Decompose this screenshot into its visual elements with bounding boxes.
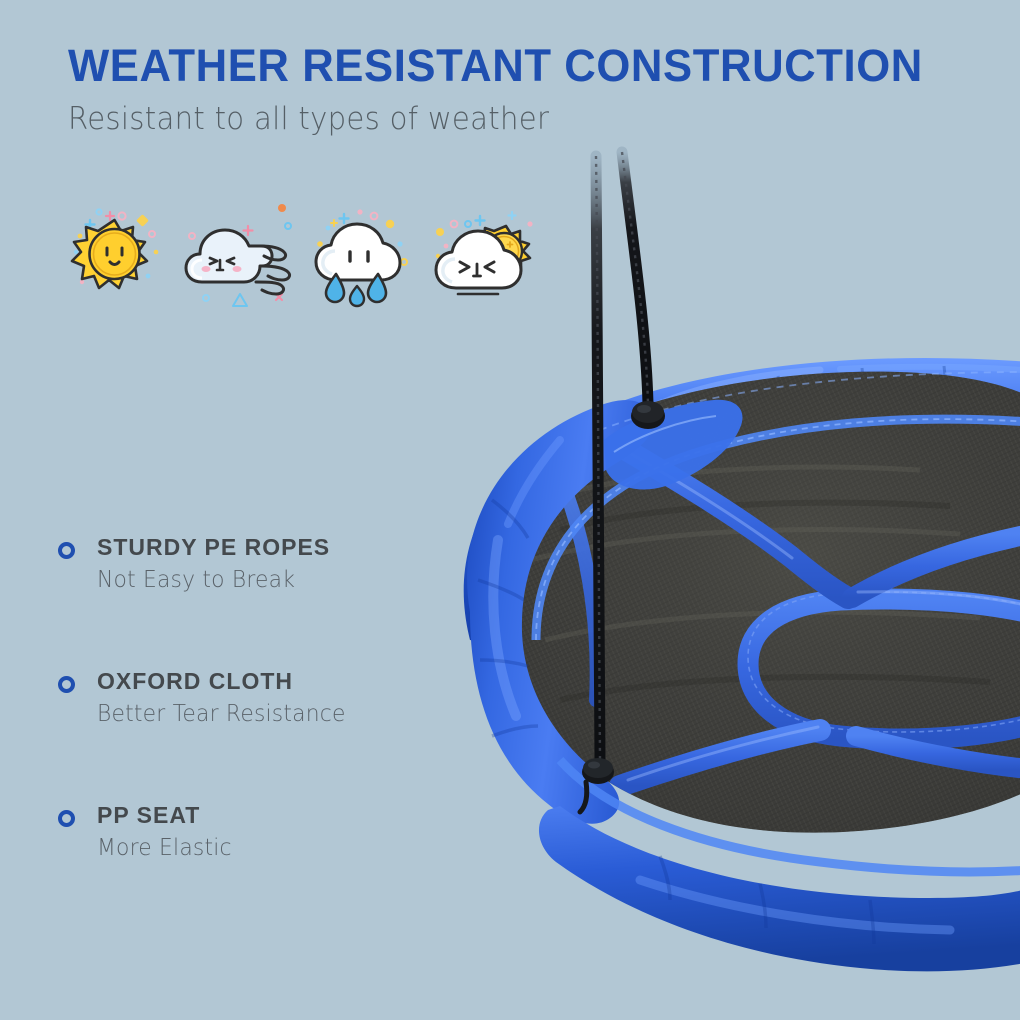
feature-item-pp-seat: PP SEAT More Elastic — [58, 803, 488, 861]
cloud-body — [186, 230, 272, 282]
feature-title: STURDY PE ROPES — [97, 535, 488, 561]
feature-list: STURDY PE ROPES Not Easy to Break OXFORD… — [58, 535, 488, 862]
feature-subtitle: Not Easy to Break — [97, 567, 468, 593]
feature-subtitle: More Elastic — [97, 835, 468, 861]
ring-bullet-icon — [58, 810, 75, 827]
page-title: WEATHER RESISTANT CONSTRUCTION — [68, 42, 922, 89]
feature-title: PP SEAT — [97, 803, 488, 829]
sunny-weather-icon — [52, 190, 177, 315]
weather-icon-row — [52, 190, 572, 315]
feature-title: OXFORD CLOTH — [97, 669, 488, 695]
sun-body — [72, 220, 147, 288]
partly-cloudy-weather-icon — [424, 190, 549, 315]
rainy-cloud-weather-icon — [300, 190, 425, 315]
header-block: WEATHER RESISTANT CONSTRUCTION Resistant… — [68, 42, 948, 136]
infographic-page: WEATHER RESISTANT CONSTRUCTION Resistant… — [0, 0, 1020, 1020]
ring-bullet-icon — [58, 676, 75, 693]
page-subtitle: Resistant to all types of weather — [68, 102, 895, 136]
feature-item-oxford-cloth: OXFORD CLOTH Better Tear Resistance — [58, 669, 488, 727]
cloud-body — [316, 224, 400, 280]
feature-item-sturdy-pe-ropes: STURDY PE ROPES Not Easy to Break — [58, 535, 488, 593]
feature-subtitle: Better Tear Resistance — [97, 701, 468, 727]
windy-cloud-weather-icon — [176, 190, 301, 315]
saucer-swing-product-photo — [0, 0, 1020, 1020]
ring-bullet-icon — [58, 542, 75, 559]
